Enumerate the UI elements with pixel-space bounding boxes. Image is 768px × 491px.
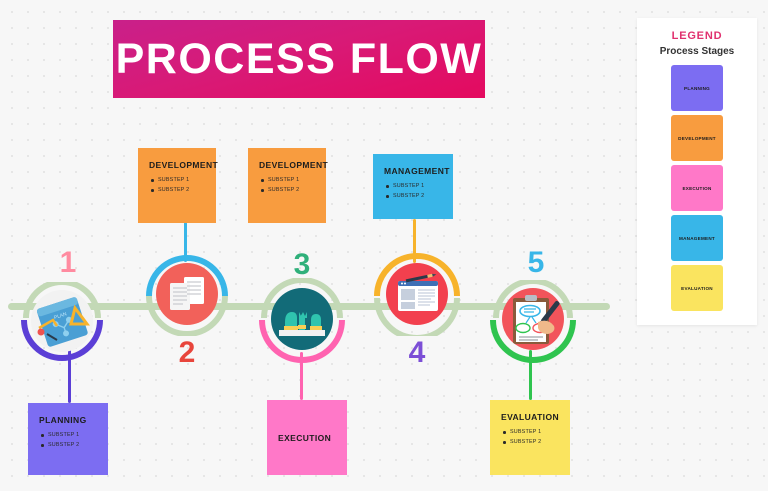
- legend-swatch-development[interactable]: DEVELOPMENT: [671, 115, 723, 161]
- process-node-2[interactable]: 2: [143, 252, 233, 372]
- title-banner: PROCESS FLOW: [113, 20, 485, 98]
- sticky-substep: SUBSTEP 1: [39, 432, 97, 438]
- sticky-note-development-2[interactable]: DEVELOPMENT SUBSTEP 1 SUBSTEP 2: [248, 148, 326, 223]
- legend-panel: LEGEND Process Stages PLANNING DEVELOPME…: [637, 18, 757, 325]
- node-number-4: 4: [397, 336, 437, 370]
- sticky-note-management[interactable]: MANAGEMENT SUBSTEP 1 SUBSTEP 2: [373, 154, 453, 219]
- node-icon-4: [386, 263, 448, 325]
- documents-icon: [156, 263, 218, 325]
- sticky-substep-list: SUBSTEP 1 SUBSTEP 2: [149, 177, 205, 193]
- sticky-substep: SUBSTEP 1: [384, 183, 442, 189]
- node-icon-2: [156, 263, 218, 325]
- legend-title: LEGEND: [637, 30, 757, 42]
- sticky-substep: SUBSTEP 1: [501, 429, 559, 435]
- legend-label: EXECUTION: [682, 186, 711, 191]
- process-node-3[interactable]: 3: [258, 250, 348, 355]
- legend-subtitle: Process Stages: [637, 46, 757, 57]
- node-number-3: 3: [282, 248, 322, 282]
- browser-icon: [386, 263, 448, 325]
- legend-label: PLANNING: [684, 86, 710, 91]
- sticky-note-execution[interactable]: EXECUTION: [267, 400, 347, 475]
- process-node-1[interactable]: 1 PLAN: [18, 248, 118, 348]
- process-flow-canvas: PROCESS FLOW DEVELOPMENT SUBSTEP 1 SUBST…: [0, 0, 768, 491]
- sticky-substep: SUBSTEP 2: [39, 442, 97, 448]
- sticky-note-evaluation[interactable]: EVALUATION SUBSTEP 1 SUBSTEP 2: [490, 400, 570, 475]
- legend-swatch-evaluation[interactable]: EVALUATION: [671, 265, 723, 311]
- sticky-substep: SUBSTEP 1: [259, 177, 315, 183]
- legend-label: DEVELOPMENT: [678, 136, 716, 141]
- sticky-title: EXECUTION: [278, 433, 331, 443]
- sticky-substep-list: SUBSTEP 1 SUBSTEP 2: [501, 429, 559, 445]
- sticky-title: DEVELOPMENT: [259, 160, 315, 170]
- sticky-substep: SUBSTEP 2: [384, 193, 442, 199]
- node-icon-1: PLAN: [31, 290, 93, 352]
- sticky-title: DEVELOPMENT: [149, 160, 205, 170]
- sticky-title: MANAGEMENT: [384, 166, 442, 176]
- node-icon-5: [502, 288, 564, 350]
- process-node-4[interactable]: 4: [373, 252, 463, 372]
- sticky-substep-list: SUBSTEP 1 SUBSTEP 2: [39, 432, 97, 448]
- sticky-substep: SUBSTEP 1: [149, 177, 205, 183]
- sticky-title: EVALUATION: [501, 412, 559, 422]
- blueprint-icon: PLAN: [31, 290, 93, 352]
- chess-icon: [271, 288, 333, 350]
- sticky-note-development-1[interactable]: DEVELOPMENT SUBSTEP 1 SUBSTEP 2: [138, 148, 216, 223]
- node-number-5: 5: [516, 246, 556, 280]
- sticky-substep-list: SUBSTEP 1 SUBSTEP 2: [259, 177, 315, 193]
- legend-swatch-planning[interactable]: PLANNING: [671, 65, 723, 111]
- sticky-substep-list: SUBSTEP 1 SUBSTEP 2: [384, 183, 442, 199]
- legend-label: EVALUATION: [681, 286, 713, 291]
- node-number-1: 1: [48, 246, 88, 280]
- sticky-substep: SUBSTEP 2: [259, 187, 315, 193]
- sticky-note-planning[interactable]: PLANNING SUBSTEP 1 SUBSTEP 2: [28, 403, 108, 475]
- sticky-substep: SUBSTEP 2: [149, 187, 205, 193]
- legend-label: MANAGEMENT: [679, 236, 715, 241]
- sticky-substep: SUBSTEP 2: [501, 439, 559, 445]
- sticky-title: PLANNING: [39, 415, 97, 425]
- legend-swatch-execution[interactable]: EXECUTION: [671, 165, 723, 211]
- page-title: PROCESS FLOW: [116, 35, 483, 84]
- node-number-2: 2: [167, 336, 207, 370]
- node-icon-3: [271, 288, 333, 350]
- legend-swatch-management[interactable]: MANAGEMENT: [671, 215, 723, 261]
- clipboard-icon: [502, 288, 564, 350]
- process-node-5[interactable]: 5: [488, 248, 588, 353]
